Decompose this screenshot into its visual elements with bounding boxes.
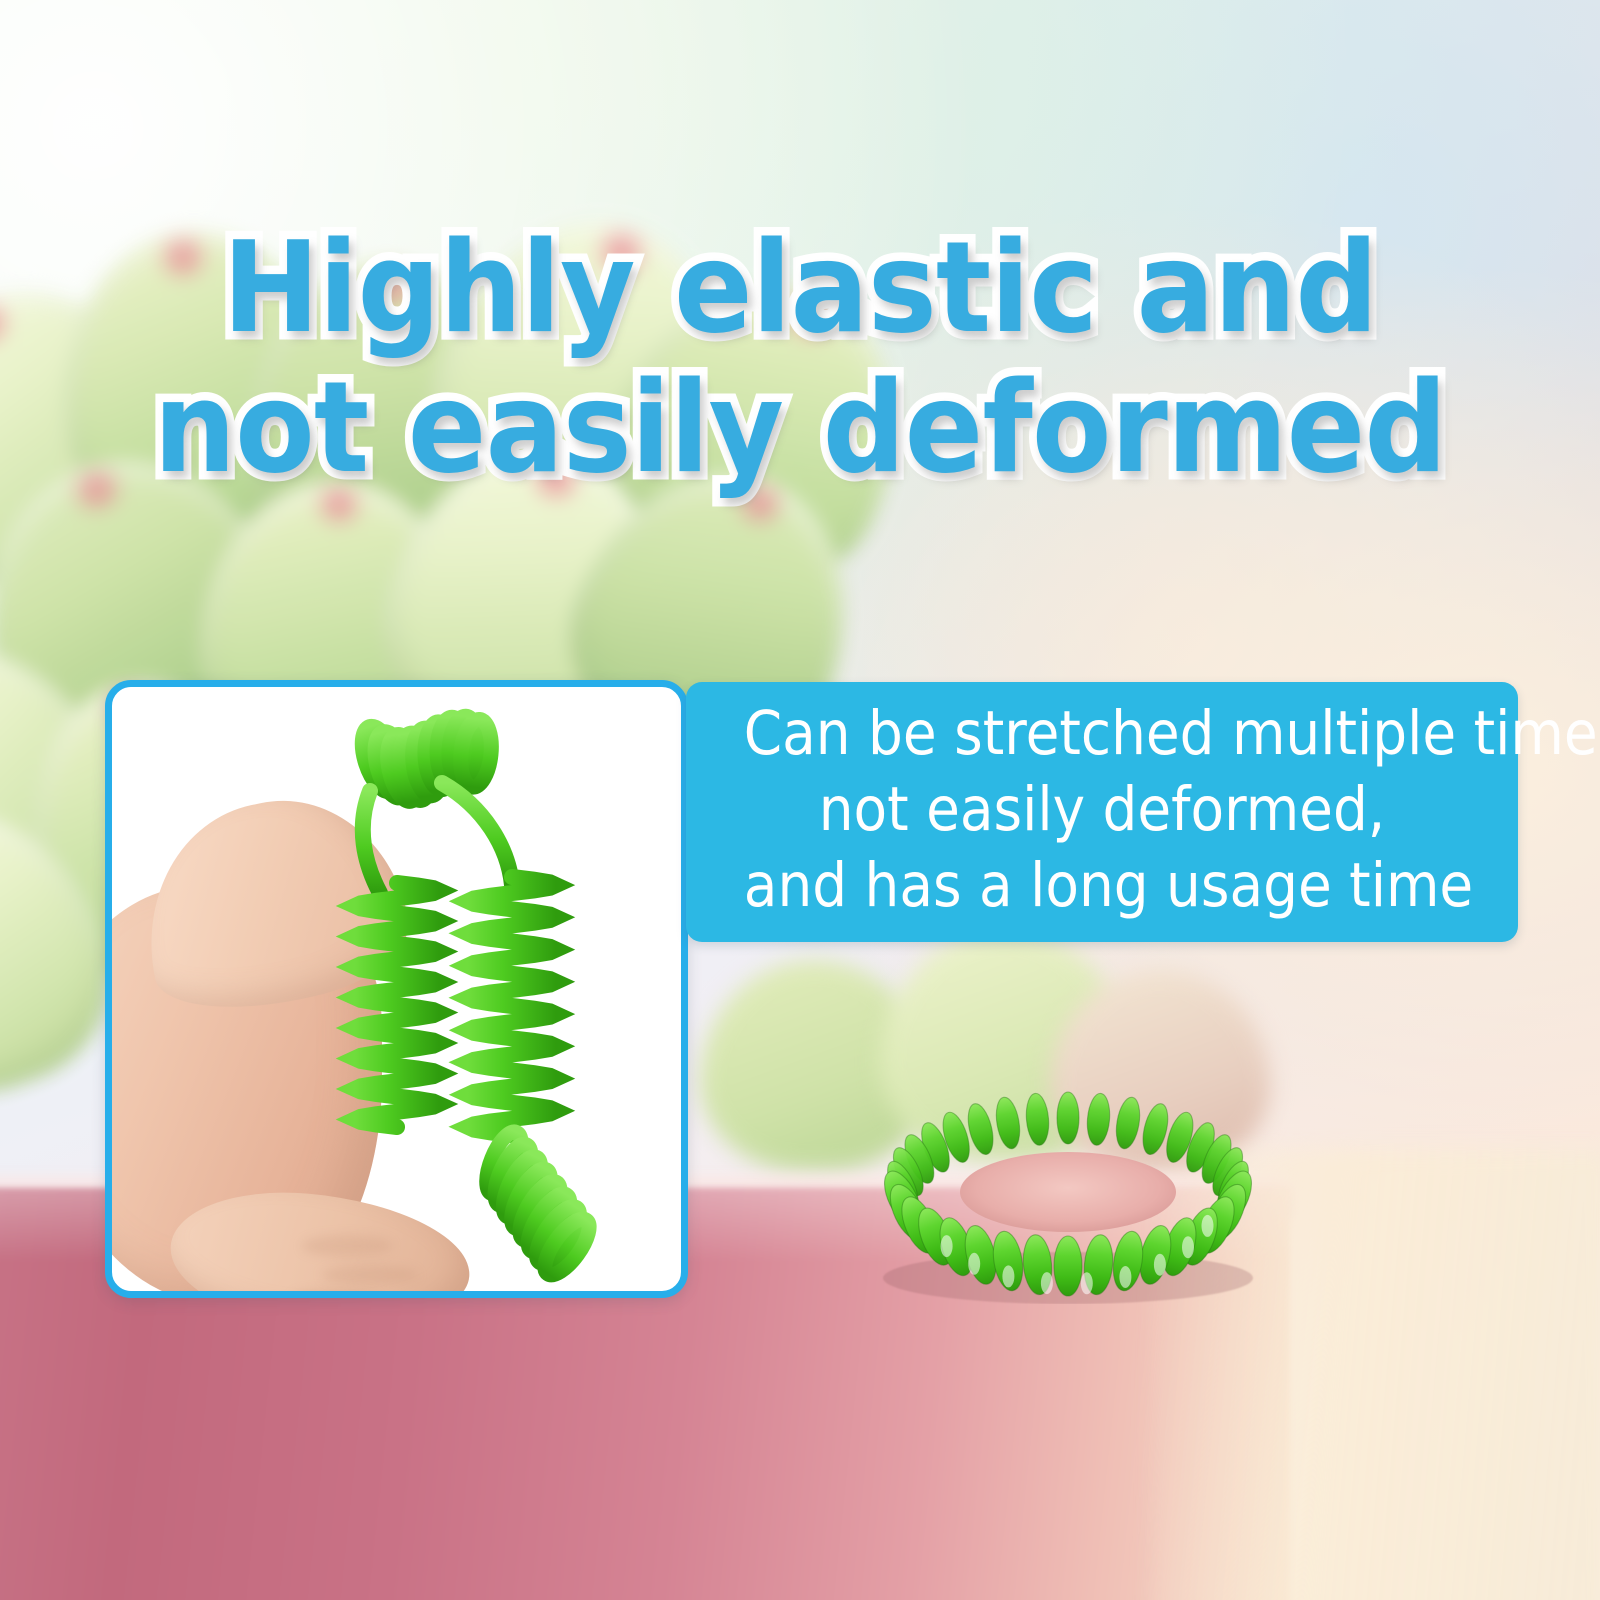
stretched-coil-svg [112, 687, 688, 1298]
coil-turn [1085, 1092, 1111, 1146]
coil-highlight [1119, 1266, 1131, 1288]
coil-turn [1024, 1092, 1050, 1146]
coil-highlight [1081, 1272, 1093, 1294]
caption-line-1: Can be stretched multiple times, [744, 696, 1460, 772]
headline-line-2: not easily deformed [64, 358, 1536, 498]
coil-highlight [1002, 1265, 1014, 1287]
coil-highlight [1154, 1254, 1166, 1276]
caption-panel: Can be stretched multiple times, not eas… [686, 682, 1518, 942]
coil-turn [1113, 1096, 1143, 1151]
coil-turn [1057, 1092, 1079, 1144]
coil-turn [1054, 1236, 1082, 1296]
coil-highlight [1041, 1272, 1053, 1294]
coil-wire-segment [355, 883, 439, 1127]
coil-turn [993, 1096, 1023, 1151]
coil-bracelet-product [852, 1042, 1284, 1304]
coil-shoulder-right [442, 783, 512, 885]
coil-wire-segment [468, 877, 556, 1135]
coil-highlight [968, 1253, 980, 1275]
coil-highlight [1182, 1236, 1194, 1258]
product-feature-poster: Highly elastic and not easily deformed [0, 0, 1600, 1600]
caption-line-3: and has a long usage time [744, 848, 1460, 924]
coil-bracelet-svg [852, 1042, 1284, 1304]
headline-line-1: Highly elastic and [64, 218, 1536, 358]
caption-line-2: not easily deformed, [744, 772, 1460, 848]
headline: Highly elastic and not easily deformed [64, 218, 1536, 498]
coil-shoulder-left [363, 791, 380, 893]
inset-photo-card [105, 680, 688, 1298]
coil-highlight [1202, 1215, 1214, 1237]
coil-highlight [941, 1235, 953, 1257]
